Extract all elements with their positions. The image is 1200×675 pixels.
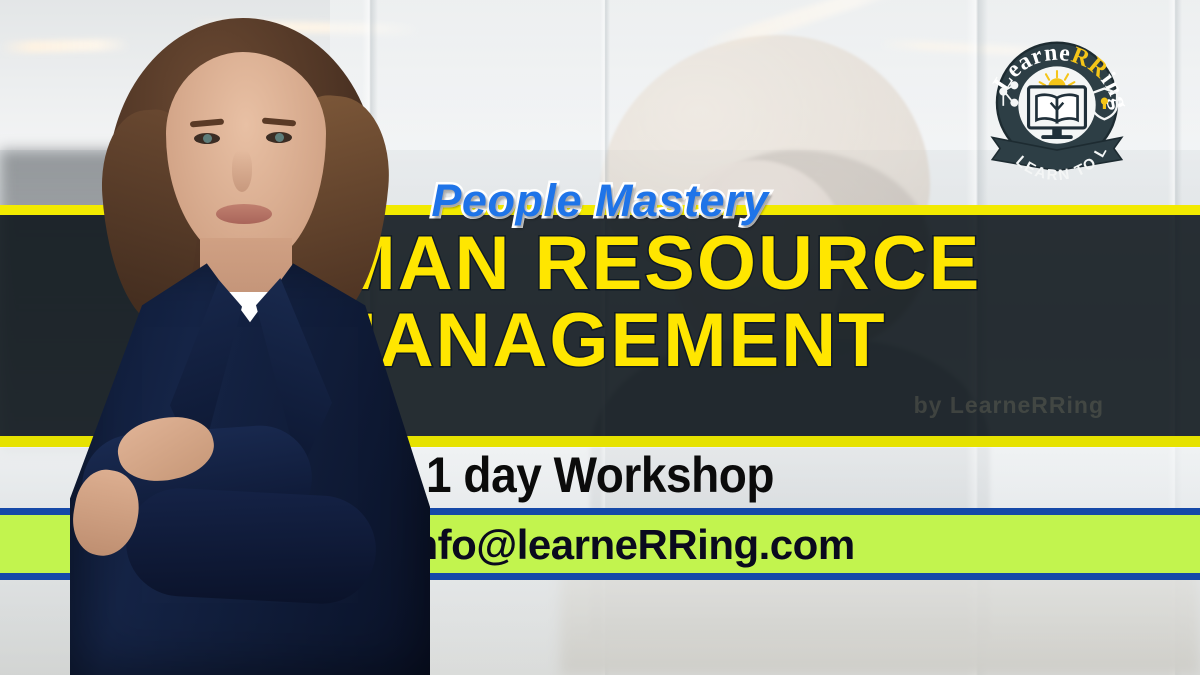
presenter-iris-left: [203, 134, 212, 143]
brand-logo[interactable]: LearneRRing: [978, 30, 1136, 188]
presenter-forearm-lower: [123, 486, 378, 607]
foreground-presenter-photo: [30, 0, 450, 675]
email-address[interactable]: info@learneRRing.com: [401, 521, 854, 569]
presenter-iris-right: [275, 133, 284, 142]
brand-credit: by LearneRRing: [914, 392, 1104, 419]
presenter-lips: [216, 204, 272, 224]
presenter-nose: [232, 150, 252, 192]
promotional-banner: People Mastery HUMAN RESOURCE MANAGEMENT…: [0, 0, 1200, 675]
